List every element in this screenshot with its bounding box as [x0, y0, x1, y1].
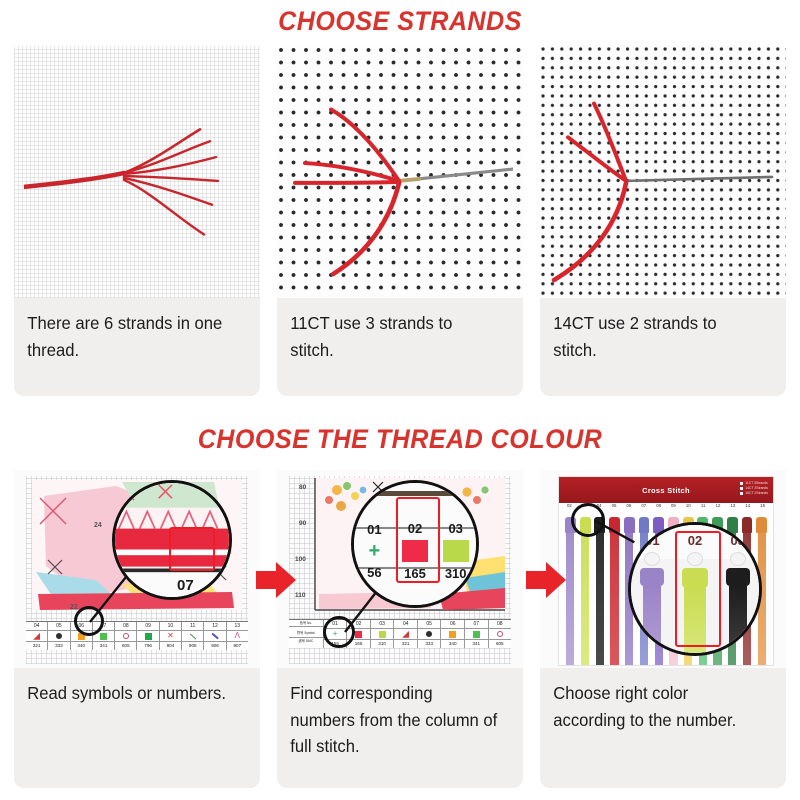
right-arrow-icon	[256, 562, 296, 598]
needle-with-three-strands-illustration	[287, 54, 513, 288]
magnifier-circle-icon-3: 01 02 03	[628, 522, 762, 656]
highlight-box-3	[675, 531, 721, 647]
highlight-box	[169, 527, 215, 571]
chart-border-band	[354, 491, 476, 496]
magnifier-target-circle	[74, 606, 104, 636]
caption-11ct-three-strands: 11CT use 3 strands to stitch.	[277, 298, 511, 396]
card-choose-color: Cross Stitch 11CT 3Strands 14CT 2Strands	[540, 470, 786, 788]
card-find-numbers: 80 90 100 110 色号 No. 符号 Symbol 线号 DMC 01	[277, 470, 523, 788]
magnifier-target-circle-2	[323, 616, 355, 648]
magnified-legend-cell: 03 310	[435, 497, 476, 605]
magnified-code: 56	[367, 565, 381, 580]
magnifier-target-circle-3	[571, 503, 605, 537]
card-read-symbols: 24 22 04 321 05 333	[14, 470, 260, 788]
skein-tail	[643, 586, 661, 653]
magnified-symbol	[443, 540, 469, 562]
card-14ct-two-strands: 14CT use 2 strands to stitch.	[540, 46, 786, 396]
skein-knot	[726, 568, 750, 586]
magnified-column-number: 03	[448, 521, 462, 536]
magnified-skein-cell: 03	[716, 525, 759, 653]
media-thread-organizer: Cross Stitch 11CT 3Strands 14CT 2Strands	[540, 470, 786, 668]
magnifier-circle-icon-2: 01 + 56 02 165 03 310	[351, 480, 479, 608]
thread-image-inset	[24, 54, 250, 288]
needle-with-two-strands-illustration	[550, 54, 776, 288]
highlight-box-2	[396, 497, 440, 583]
caption-six-strands: There are 6 strands in one thread.	[14, 298, 248, 396]
caption-14ct-two-strands: 14CT use 2 strands to stitch.	[540, 298, 774, 396]
media-14ct-fabric	[540, 46, 786, 298]
section-heading-choose-thread-colour: CHOOSE THE THREAD COLOUR	[28, 424, 772, 455]
skein-knot	[640, 568, 664, 586]
media-11ct-fabric	[277, 46, 523, 298]
caption-choose-color: Choose right color according to the numb…	[540, 668, 774, 788]
magnified-skein-number: 01	[645, 533, 659, 548]
skein-tail	[729, 586, 747, 653]
skein-hole-icon	[644, 552, 660, 566]
magnified-symbol: +	[368, 541, 380, 561]
magnified-skein-number: 03	[730, 533, 744, 548]
caption-read-symbols: Read symbols or numbers.	[14, 668, 248, 788]
magnified-legend-cell: 01 + 56	[354, 497, 395, 605]
infographic-page: CHOOSE STRANDS There a	[0, 0, 800, 800]
six-strands-illustration	[24, 54, 250, 288]
skein-hole-icon	[730, 552, 746, 566]
card-11ct-three-strands: 11CT use 3 strands to stitch.	[277, 46, 523, 396]
magnified-symbol-number: 07	[177, 577, 194, 594]
needle-image-inset	[287, 54, 513, 288]
media-pattern-chart-numbers: 80 90 100 110 色号 No. 符号 Symbol 线号 DMC 01	[277, 470, 523, 668]
section-heading-choose-strands: CHOOSE STRANDS	[28, 6, 772, 37]
caption-find-numbers: Find corresponding numbers from the colu…	[277, 668, 511, 788]
media-pattern-chart-symbols: 24 22 04 321 05 333	[14, 470, 260, 668]
media-six-strand-thread	[14, 46, 260, 298]
needle-image-inset-2	[550, 54, 776, 288]
card-six-strands: There are 6 strands in one thread.	[14, 46, 260, 396]
magnifier-circle-icon: 07	[112, 480, 232, 600]
magnified-code: 310	[445, 566, 467, 581]
right-arrow-icon	[526, 562, 566, 598]
magnified-column-number: 01	[367, 522, 381, 537]
magnified-skein-cell: 01	[631, 525, 674, 653]
strands-card-row: There are 6 strands in one thread. 11	[0, 46, 800, 396]
thread-colour-card-row: 24 22 04 321 05 333	[0, 470, 800, 788]
